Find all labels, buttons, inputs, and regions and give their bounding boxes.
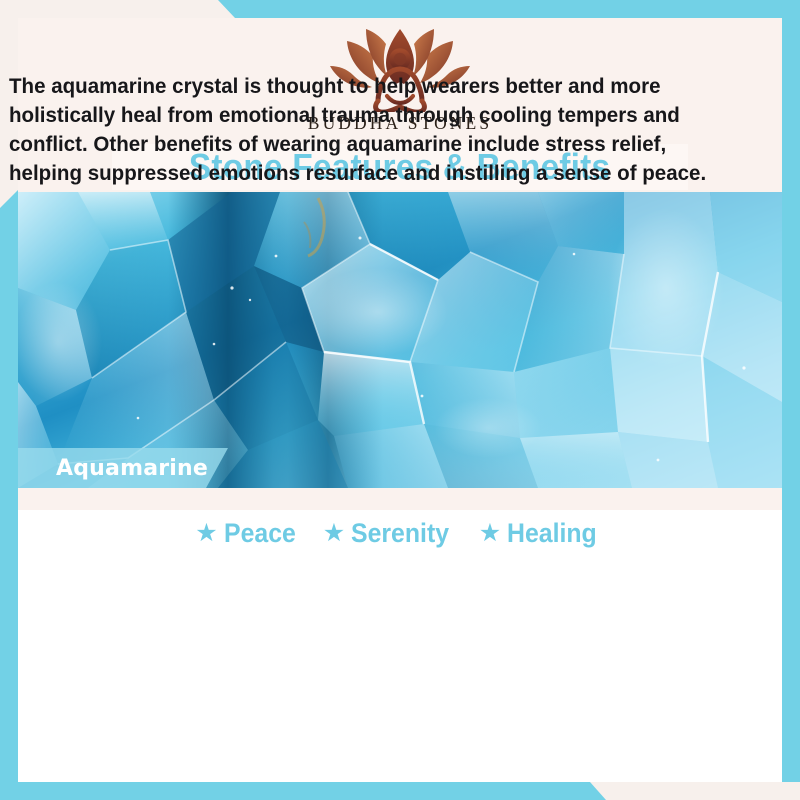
star-icon: ★: [479, 521, 501, 546]
stone-name-banner: Aquamarine: [18, 448, 228, 488]
benefit-keyword-row: ★ Peace ★ Serenity ★ Healing: [18, 512, 782, 554]
star-icon: ★: [195, 521, 217, 546]
keyword-healing: ★ Healing: [479, 518, 605, 549]
accent-band-top: [218, 0, 800, 18]
panel-top-tint: [18, 488, 782, 510]
accent-band-left: [0, 190, 18, 782]
keyword-serenity: ★ Serenity: [323, 518, 458, 549]
keyword-peace: ★ Peace: [195, 518, 302, 549]
infographic-page: BUDDHA STONES Stone Features & Benefits: [0, 0, 800, 800]
keyword-label: Healing: [507, 518, 597, 549]
keyword-label: Peace: [224, 518, 296, 549]
stone-name-label: Aquamarine: [56, 456, 208, 481]
keyword-label: Serenity: [351, 518, 449, 549]
hero-image: Aquamarine: [18, 192, 782, 488]
accent-band-bottom: [0, 782, 606, 800]
description-text: The aquamarine crystal is thought to hel…: [9, 72, 727, 188]
star-icon: ★: [323, 521, 345, 546]
aquamarine-crystal-photo: [18, 192, 782, 488]
